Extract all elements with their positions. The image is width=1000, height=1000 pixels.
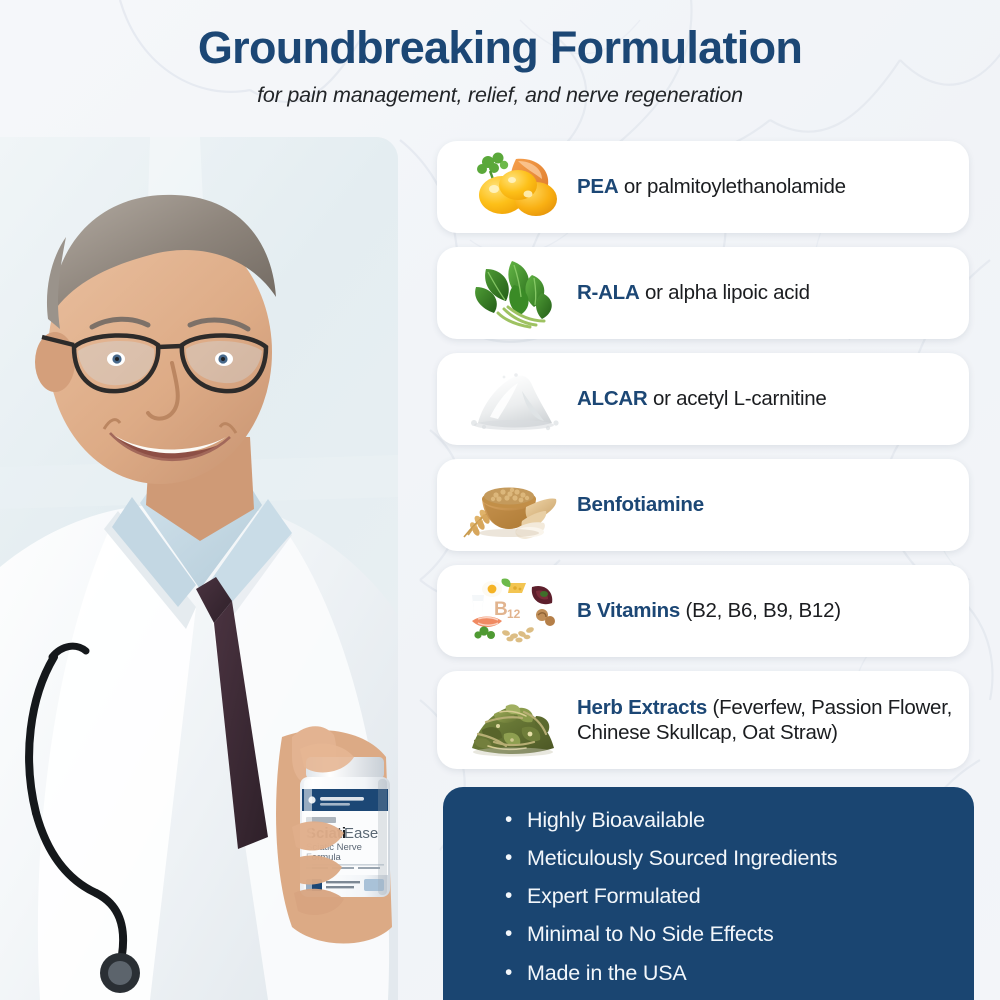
benefit-label: Minimal to No Side Effects <box>527 923 774 947</box>
ingredient-label: B Vitamins (B2, B6, B9, B12) <box>573 598 841 623</box>
ingredient-detail: (B2, B6, B9, B12) <box>680 599 841 622</box>
svg-text:B: B <box>494 599 508 620</box>
bullet-icon: • <box>505 809 527 831</box>
dried-herbs-icon <box>453 680 573 760</box>
benefits-panel: • Highly Bioavailable • Meticulously Sou… <box>443 787 974 1000</box>
ingredient-card-b-vitamins[interactable]: B 12 B Vitamins (B2, B6, B9, B12) <box>437 565 969 657</box>
ingredient-detail: or acetyl L-carnitine <box>648 387 827 410</box>
benefit-item: • Made in the USA <box>505 962 944 986</box>
header: Groundbreaking Formulation for pain mana… <box>0 0 1000 136</box>
ingredient-name: R-ALA <box>577 281 640 304</box>
b12-foods-circle-icon: B 12 <box>453 571 573 651</box>
bullet-icon: • <box>505 923 527 945</box>
white-powder-icon <box>453 359 573 439</box>
svg-text:12: 12 <box>507 607 521 621</box>
ingredient-card-herb-extracts[interactable]: Herb Extracts (Feverfew, Passion Flower,… <box>437 671 969 769</box>
ingredient-card-list: PEA or palmitoylethanolamide <box>437 141 969 783</box>
ingredient-name: Benfotiamine <box>577 493 704 516</box>
svg-text:Ease: Ease <box>344 825 378 842</box>
benefit-item: • Highly Bioavailable <box>505 809 944 833</box>
bullet-icon: • <box>505 962 527 984</box>
ingredient-label: Benfotiamine <box>573 492 704 517</box>
ingredient-name: B Vitamins <box>577 599 680 622</box>
benefit-label: Meticulously Sourced Ingredients <box>527 847 837 871</box>
doctor-photo: Sciati Ease Sciatic Nerve Formula <box>0 137 398 1000</box>
egg-yolks-icon <box>453 147 573 227</box>
benefit-label: Highly Bioavailable <box>527 809 705 833</box>
doctor-photo-panel: Sciati Ease Sciatic Nerve Formula <box>0 137 398 1000</box>
benefit-label: Made in the USA <box>527 962 687 986</box>
ingredient-detail: or alpha lipoic acid <box>640 281 810 304</box>
ingredient-label: R-ALA or alpha lipoic acid <box>573 280 810 305</box>
page-title: Groundbreaking Formulation <box>0 22 1000 74</box>
ingredient-card-alcar[interactable]: ALCAR or acetyl L-carnitine <box>437 353 969 445</box>
ingredient-name: Herb Extracts <box>577 696 707 719</box>
ingredient-card-benfotiamine[interactable]: Benfotiamine <box>437 459 969 551</box>
benefit-item: • Expert Formulated <box>505 885 944 909</box>
ingredient-card-pea[interactable]: PEA or palmitoylethanolamide <box>437 141 969 233</box>
spinach-leaves-icon <box>453 253 573 333</box>
ingredient-name: PEA <box>577 175 618 198</box>
benefit-item: • Meticulously Sourced Ingredients <box>505 847 944 871</box>
ingredient-card-r-ala[interactable]: R-ALA or alpha lipoic acid <box>437 247 969 339</box>
ingredient-label: Herb Extracts (Feverfew, Passion Flower,… <box>573 695 957 746</box>
ingredient-label: PEA or palmitoylethanolamide <box>573 174 846 199</box>
bullet-icon: • <box>505 847 527 869</box>
ingredient-label: ALCAR or acetyl L-carnitine <box>573 386 827 411</box>
page-subtitle: for pain management, relief, and nerve r… <box>0 83 1000 108</box>
ingredient-detail: or palmitoylethanolamide <box>618 175 845 198</box>
grain-bowl-wheat-icon <box>453 465 573 545</box>
benefit-label: Expert Formulated <box>527 885 700 909</box>
ingredient-name: ALCAR <box>577 387 648 410</box>
bullet-icon: • <box>505 885 527 907</box>
benefit-item: • Minimal to No Side Effects <box>505 923 944 947</box>
promotional-infographic: Groundbreaking Formulation for pain mana… <box>0 0 1000 1000</box>
